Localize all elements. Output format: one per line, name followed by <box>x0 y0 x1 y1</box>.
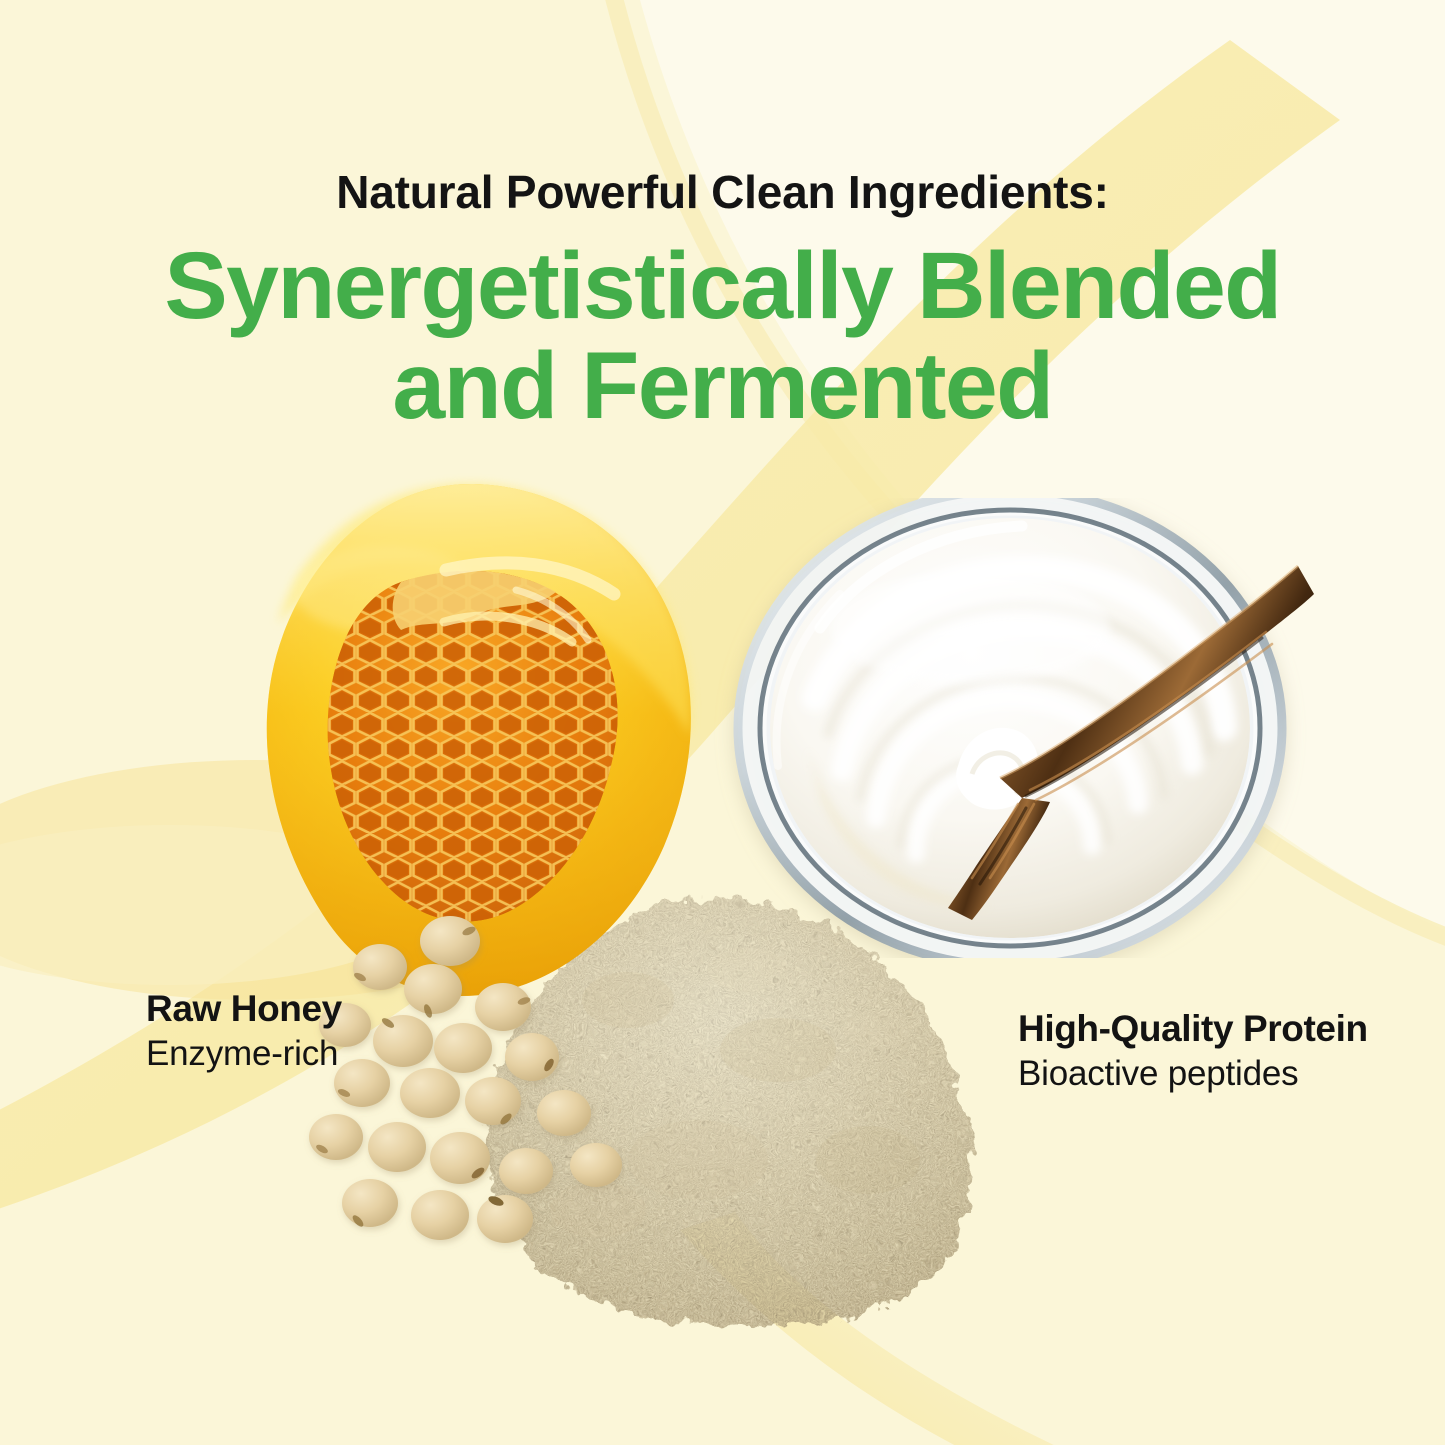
headline-line-2: and Fermented <box>0 336 1445 437</box>
soybeans-image <box>300 915 690 1255</box>
ingredient-title: Raw Honey <box>146 988 342 1031</box>
ingredient-subtitle: Enzyme-rich <box>146 1031 342 1077</box>
headline-line-1: Synergetistically Blended <box>0 236 1445 337</box>
ingredient-title: High-Quality Protein <box>1018 1008 1368 1051</box>
ingredient-label-raw-honey: Raw Honey Enzyme-rich <box>146 988 342 1076</box>
yogurt-jar-image <box>700 498 1320 958</box>
ingredients-infographic: Natural Powerful Clean Ingredients: Syne… <box>0 0 1445 1445</box>
yogurt-surface <box>770 518 1250 938</box>
soybean-group <box>309 916 622 1243</box>
ingredient-subtitle: Bioactive peptides <box>1018 1051 1368 1097</box>
ingredient-label-high-quality-protein: High-Quality Protein Bioactive peptides <box>1018 1008 1368 1096</box>
headline-text: Synergetistically Blended and Fermented <box>0 236 1445 437</box>
eyebrow-text: Natural Powerful Clean Ingredients: <box>0 168 1445 218</box>
headline-block: Natural Powerful Clean Ingredients: Syne… <box>0 168 1445 437</box>
